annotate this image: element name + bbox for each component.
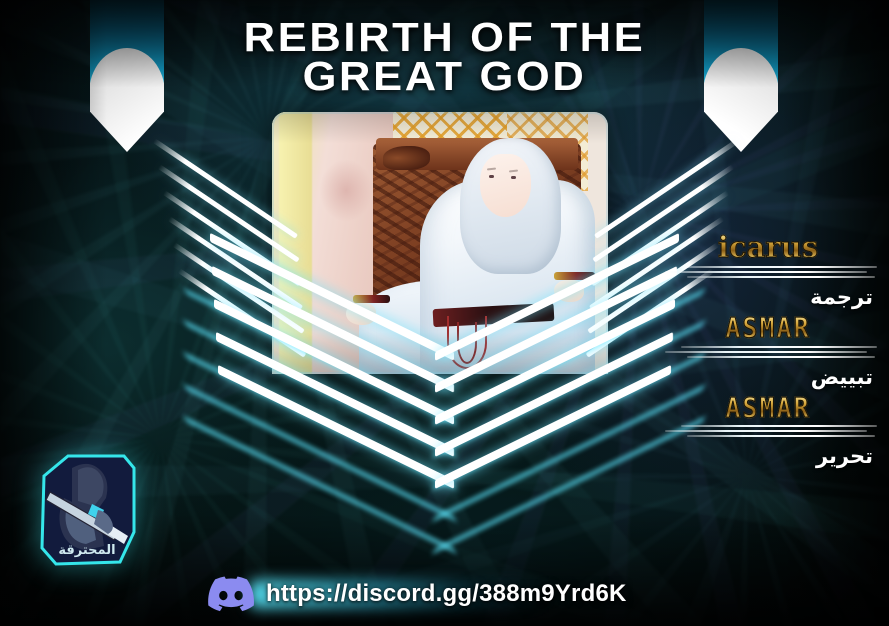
team-logo-label: المحترقة: [28, 543, 146, 558]
discord-invite-bar[interactable]: https://discord.gg/388m9Yrd6K: [208, 576, 627, 612]
discord-url-text[interactable]: https://discord.gg/388m9Yrd6K: [266, 580, 627, 608]
credit-role: تحرير: [665, 442, 877, 474]
hero-artwork-panel: [272, 112, 608, 374]
credit-name: ASMAR: [665, 314, 877, 343]
credit-entry: ASMAR تبييض: [665, 315, 877, 394]
manga-title-page: REBIRTH OF THE GREAT GOD: [0, 0, 889, 626]
discord-icon: [208, 576, 254, 612]
credits-panel: icarus ترجمة ASMAR تبييض ASMAR تحرير: [665, 232, 877, 474]
credit-divider: [665, 265, 877, 281]
team-logo-badge: المحترقة: [28, 446, 146, 572]
credit-name: ASMAR: [665, 393, 877, 422]
page-title: REBIRTH OF THE GREAT GOD: [0, 18, 889, 97]
hero-illustration: [272, 112, 608, 374]
credit-divider: [665, 424, 877, 440]
credit-entry: ASMAR تحرير: [665, 395, 877, 474]
credit-role: تبييض: [665, 363, 877, 395]
credit-entry: icarus ترجمة: [665, 232, 877, 315]
credit-divider: [665, 345, 877, 361]
credit-name: icarus: [665, 232, 877, 262]
hero-shading-overlay: [272, 112, 608, 374]
